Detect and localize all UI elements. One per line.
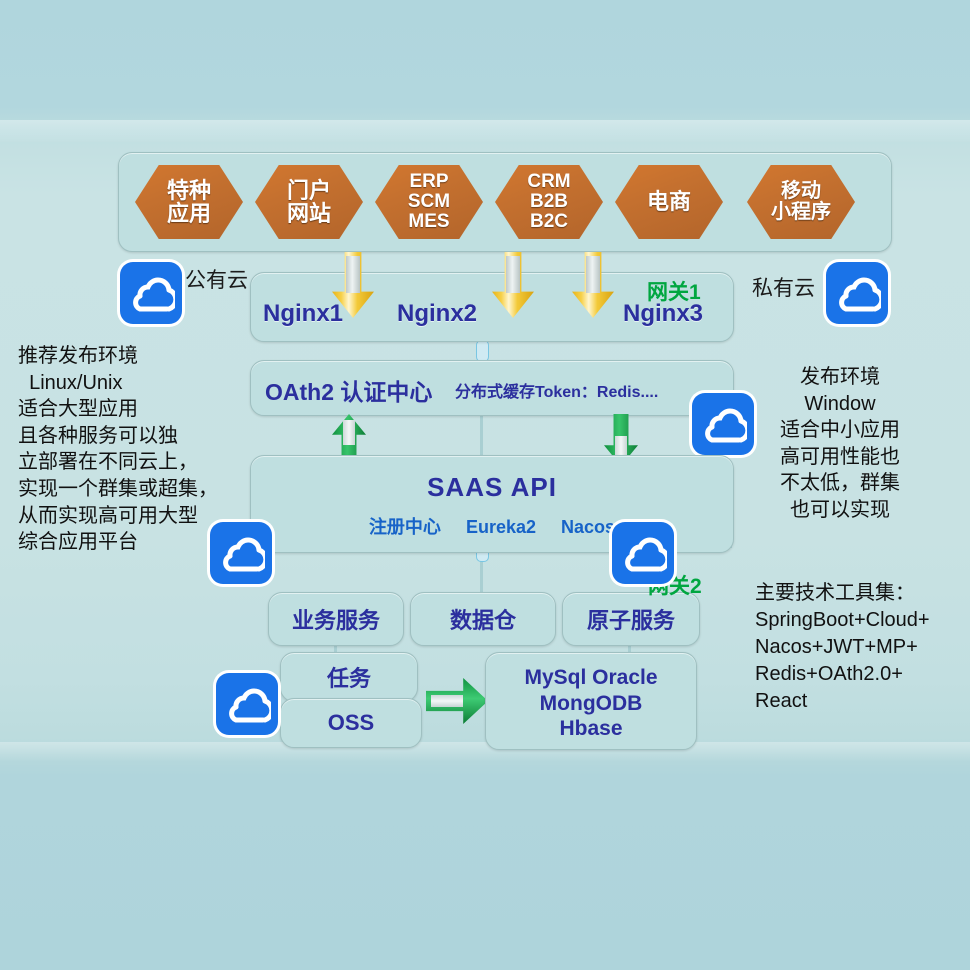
tech-stack-note: 主要技术工具集： SpringBoot+Cloud+ Nacos+JWT+MP+…: [755, 580, 930, 715]
right-deployment-note: 发布环境 Window 适合中小应用 高可用性能也 不太低，群集 也可以实现: [780, 364, 900, 524]
service-box-atomic[interactable]: 原子服务: [562, 592, 700, 646]
app-hexagon-special-line1: 特种: [167, 179, 211, 202]
app-hexagon-crm-line2: B2B: [527, 192, 570, 212]
registry-label: 注册中心: [369, 517, 441, 537]
bottom-gloss-band: [0, 742, 970, 762]
service-box-business[interactable]: 业务服务: [268, 592, 404, 646]
oauth2-title: OAth2 认证中心: [265, 373, 432, 407]
app-hexagon-crm[interactable]: CRMB2BB2C: [495, 165, 603, 239]
app-hexagon-special-line2: 应用: [167, 202, 211, 225]
app-hexagon-portal[interactable]: 门户网站: [255, 165, 363, 239]
app-hexagon-crm-line3: B2C: [527, 212, 570, 232]
service-box-oss[interactable]: OSS: [280, 698, 422, 748]
right-service-cloud-icon: [612, 522, 674, 584]
app-hexagon-erp-line1: ERP: [408, 172, 450, 192]
auth-layer-panel: OAth2 认证中心 分布式缓存Token：Redis....: [250, 360, 734, 416]
app-hexagon-portal-line1: 门户: [287, 179, 331, 202]
app-hexagon-ecommerce-line1: 电商: [647, 190, 691, 213]
public-cloud-icon: [120, 262, 182, 324]
flow-arrow-right-green: [426, 678, 488, 724]
gateway-layer-panel: Nginx1 Nginx2 Nginx3 网关1: [250, 272, 734, 342]
datastore-line1: MySql Oracle: [486, 665, 696, 691]
datastore-text: MySql Oracle MongODB Hbase: [486, 665, 696, 742]
private-cloud-icon: [826, 262, 888, 324]
registry-nacos: Nacos: [561, 517, 615, 537]
saas-api-title: SAAS API: [251, 472, 733, 503]
left-service-cloud-icon: [210, 522, 272, 584]
app-hexagon-mobile-line2: 小程序: [771, 202, 831, 223]
app-hexagon-portal-line2: 网站: [287, 202, 331, 225]
app-hexagon-mobile[interactable]: 移动小程序: [747, 165, 855, 239]
app-hexagon-erp[interactable]: ERPSCMMES: [375, 165, 483, 239]
registry-eureka2: Eureka2: [466, 517, 536, 537]
gateway1-label: 网关1: [647, 276, 701, 306]
app-hexagon-ecommerce[interactable]: 电商: [615, 165, 723, 239]
service-box-warehouse[interactable]: 数据仓: [410, 592, 556, 646]
top-gloss-band: [0, 120, 970, 142]
private-cloud-label: 私有云: [752, 272, 815, 302]
storage-cloud-icon: [216, 673, 278, 735]
app-hexagon-special[interactable]: 特种应用: [135, 165, 243, 239]
datastore-line3: Hbase: [486, 716, 696, 742]
application-layer-panel: 特种应用 门户网站 ERPSCMMES CRMB2BB2C 电商 移动小程序: [118, 152, 892, 252]
token-cache-label: 分布式缓存Token：Redis....: [455, 378, 658, 402]
diagram-canvas: 特种应用 门户网站 ERPSCMMES CRMB2BB2C 电商 移动小程序 N…: [0, 0, 970, 970]
service-box-task[interactable]: 任务: [280, 652, 418, 702]
app-hexagon-crm-line1: CRM: [527, 172, 570, 192]
auth-cloud-icon: [692, 393, 754, 455]
app-hexagon-erp-line2: SCM: [408, 192, 450, 212]
app-hexagon-mobile-line1: 移动: [771, 181, 831, 202]
datastore-panel[interactable]: MySql Oracle MongODB Hbase: [485, 652, 697, 750]
nginx2-label[interactable]: Nginx2: [397, 300, 477, 328]
connector-oauth-saas: [480, 414, 483, 456]
datastore-line2: MongODB: [486, 691, 696, 717]
left-deployment-note: 推荐发布环境 Linux/Unix 适合大型应用 且各种服务可以独 立部署在不同…: [18, 343, 218, 556]
connector-pill-upper: [476, 340, 489, 362]
nginx1-label[interactable]: Nginx1: [263, 300, 343, 328]
app-hexagon-erp-line3: MES: [408, 212, 450, 232]
public-cloud-label: 公有云: [185, 264, 248, 294]
